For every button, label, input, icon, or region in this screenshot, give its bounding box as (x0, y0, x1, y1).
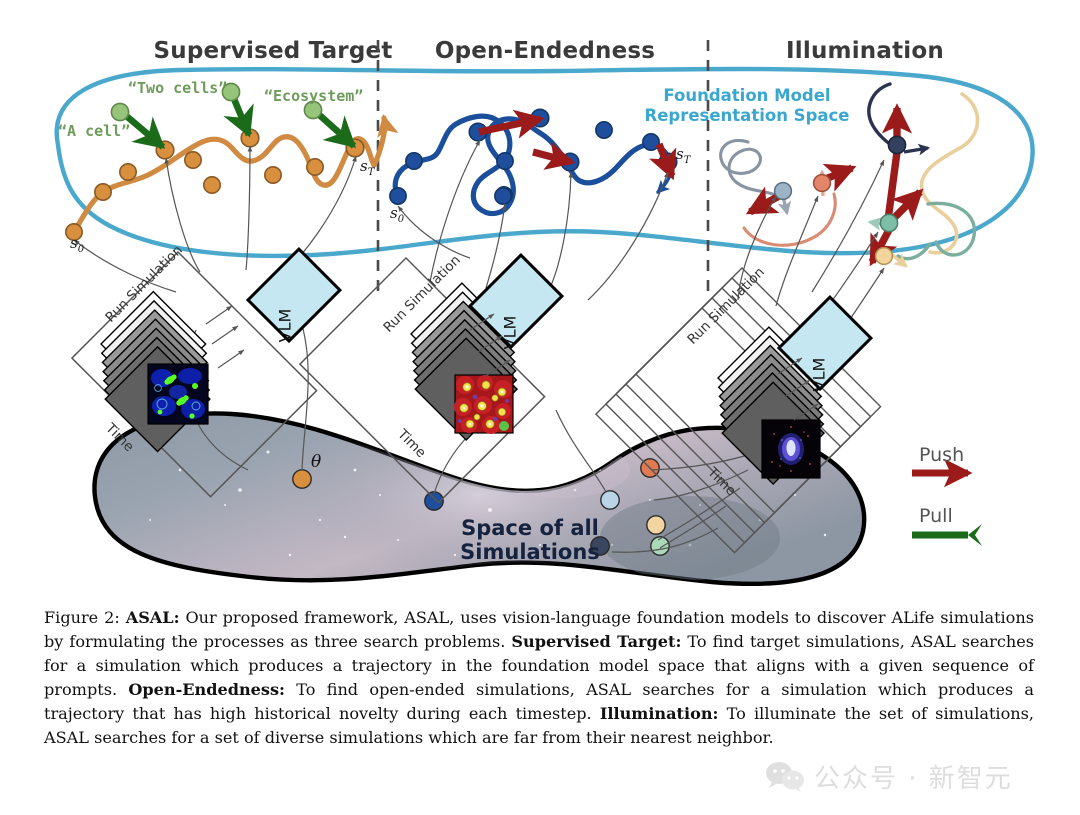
section-header-illumination: Illumination (720, 38, 1010, 64)
illumination-node (876, 248, 893, 265)
open-endedness-push-arrows (479, 119, 672, 176)
trajectory-node (495, 188, 511, 204)
trajectory-node (307, 159, 323, 175)
push-arrow (890, 192, 920, 222)
run-simulation-label-3: Run Simulation (684, 264, 768, 348)
space-of-all-simulations-blob (94, 410, 864, 600)
figure-asal: Supervised Target Open-Endedness Illumin… (0, 0, 1080, 815)
trajectory-node (561, 153, 579, 171)
run-simulation-label-1: Run Simulation (102, 242, 186, 326)
trajectory-node (265, 167, 281, 183)
caption-lead-bold: ASAL: (126, 608, 180, 627)
vlm-label-1: VLM (275, 309, 294, 343)
push-arrow (479, 119, 540, 132)
caption-bold-illumination: Illumination: (600, 704, 719, 723)
simulation-preview-image (762, 420, 820, 478)
prompt-label-ecosystem: “Ecosystem” (264, 87, 363, 105)
simulation-preview-image (148, 364, 208, 424)
push-arrow (872, 228, 890, 262)
push-arrow (533, 152, 571, 162)
blob-title-line1: Space of all (430, 516, 630, 540)
prompt-label-a-cell: “A cell” (58, 122, 130, 140)
connector-lines (74, 140, 884, 552)
trajectory-node (659, 153, 677, 171)
trajectory-node (241, 129, 259, 147)
caption-bold-supervised: Supervised Target: (511, 632, 681, 651)
illumination-node (888, 136, 905, 153)
trajectory-node (120, 164, 136, 180)
space-of-all-simulations-title: Space of all Simulations (430, 516, 630, 565)
simulation-preview-image (454, 375, 513, 434)
prompt-node (111, 103, 128, 120)
pipeline-supervised (72, 249, 340, 497)
theta-label: θ (311, 452, 321, 472)
illumination-node (880, 214, 897, 231)
legend-pull-arrow (912, 524, 982, 546)
trajectory-node (95, 184, 111, 200)
wechat-icon (765, 761, 805, 793)
caption-bold-open: Open-Endedness: (128, 680, 285, 699)
state-label-s0-supervised: s0 (70, 234, 84, 255)
state-label-s0-open: s0 (390, 204, 404, 225)
trajectory-node (390, 188, 406, 204)
foundation-model-space-label: Foundation Model Representation Space (622, 86, 872, 126)
vlm-label-2: VLM (500, 316, 519, 350)
time-label-3: Time (704, 464, 739, 499)
illum-point-1 (601, 491, 619, 509)
wechat-watermark: 公众号 · 新智元 (765, 758, 1013, 795)
trajectory-node (531, 109, 549, 127)
push-arrow (659, 144, 672, 176)
illum-point-2 (641, 459, 659, 477)
state-label-sT-supervised: sT (360, 157, 374, 178)
prompt-label-two-cells: “Two cells” (128, 79, 227, 97)
section-header-open-endedness: Open-Endedness (400, 38, 690, 64)
trajectory-node (497, 153, 513, 169)
time-label-1: Time (102, 420, 137, 455)
illumination-node (814, 175, 831, 192)
trajectory-node (406, 153, 422, 169)
simulation-frame-stack (76, 292, 236, 452)
open-point (425, 492, 443, 510)
trajectory-node (496, 187, 512, 203)
fm-label-line1: Foundation Model (622, 86, 872, 106)
run-simulation-label-2: Run Simulation (380, 252, 464, 336)
push-arrow (816, 168, 852, 183)
trajectory-node (346, 139, 364, 157)
figure-caption: Figure 2: ASAL: Our proposed framework, … (44, 606, 1034, 750)
time-label-2: Time (394, 426, 429, 461)
section-header-supervised-target: Supervised Target (108, 38, 438, 64)
foundation-model-space-boundary (57, 69, 1033, 256)
legend-label-pull: Pull (919, 505, 953, 527)
push-connector (888, 152, 897, 220)
fm-label-line2: Representation Space (622, 106, 872, 126)
blob-title-line2: Simulations (430, 540, 630, 564)
illum-point-5 (651, 537, 669, 555)
simulation-frame-stack (693, 327, 850, 484)
trajectory-node (469, 123, 487, 141)
trajectory-node (643, 134, 659, 150)
watermark-text: 公众号 · 新智元 (814, 758, 1013, 795)
legend-label-push: Push (919, 444, 964, 466)
trajectory-node (596, 122, 612, 138)
illumination-node (775, 183, 792, 200)
pipeline-illumination (596, 268, 881, 553)
state-label-sT-open: sT (676, 145, 690, 166)
caption-figure-number: Figure 2: (44, 608, 120, 627)
vlm-label-3: VLM (809, 358, 828, 392)
push-arrow (750, 190, 790, 212)
trajectory-node (185, 152, 201, 168)
illum-point-4 (647, 516, 665, 534)
theta-point (293, 470, 311, 488)
trajectory-node (204, 177, 220, 193)
trajectory-node (156, 141, 174, 159)
